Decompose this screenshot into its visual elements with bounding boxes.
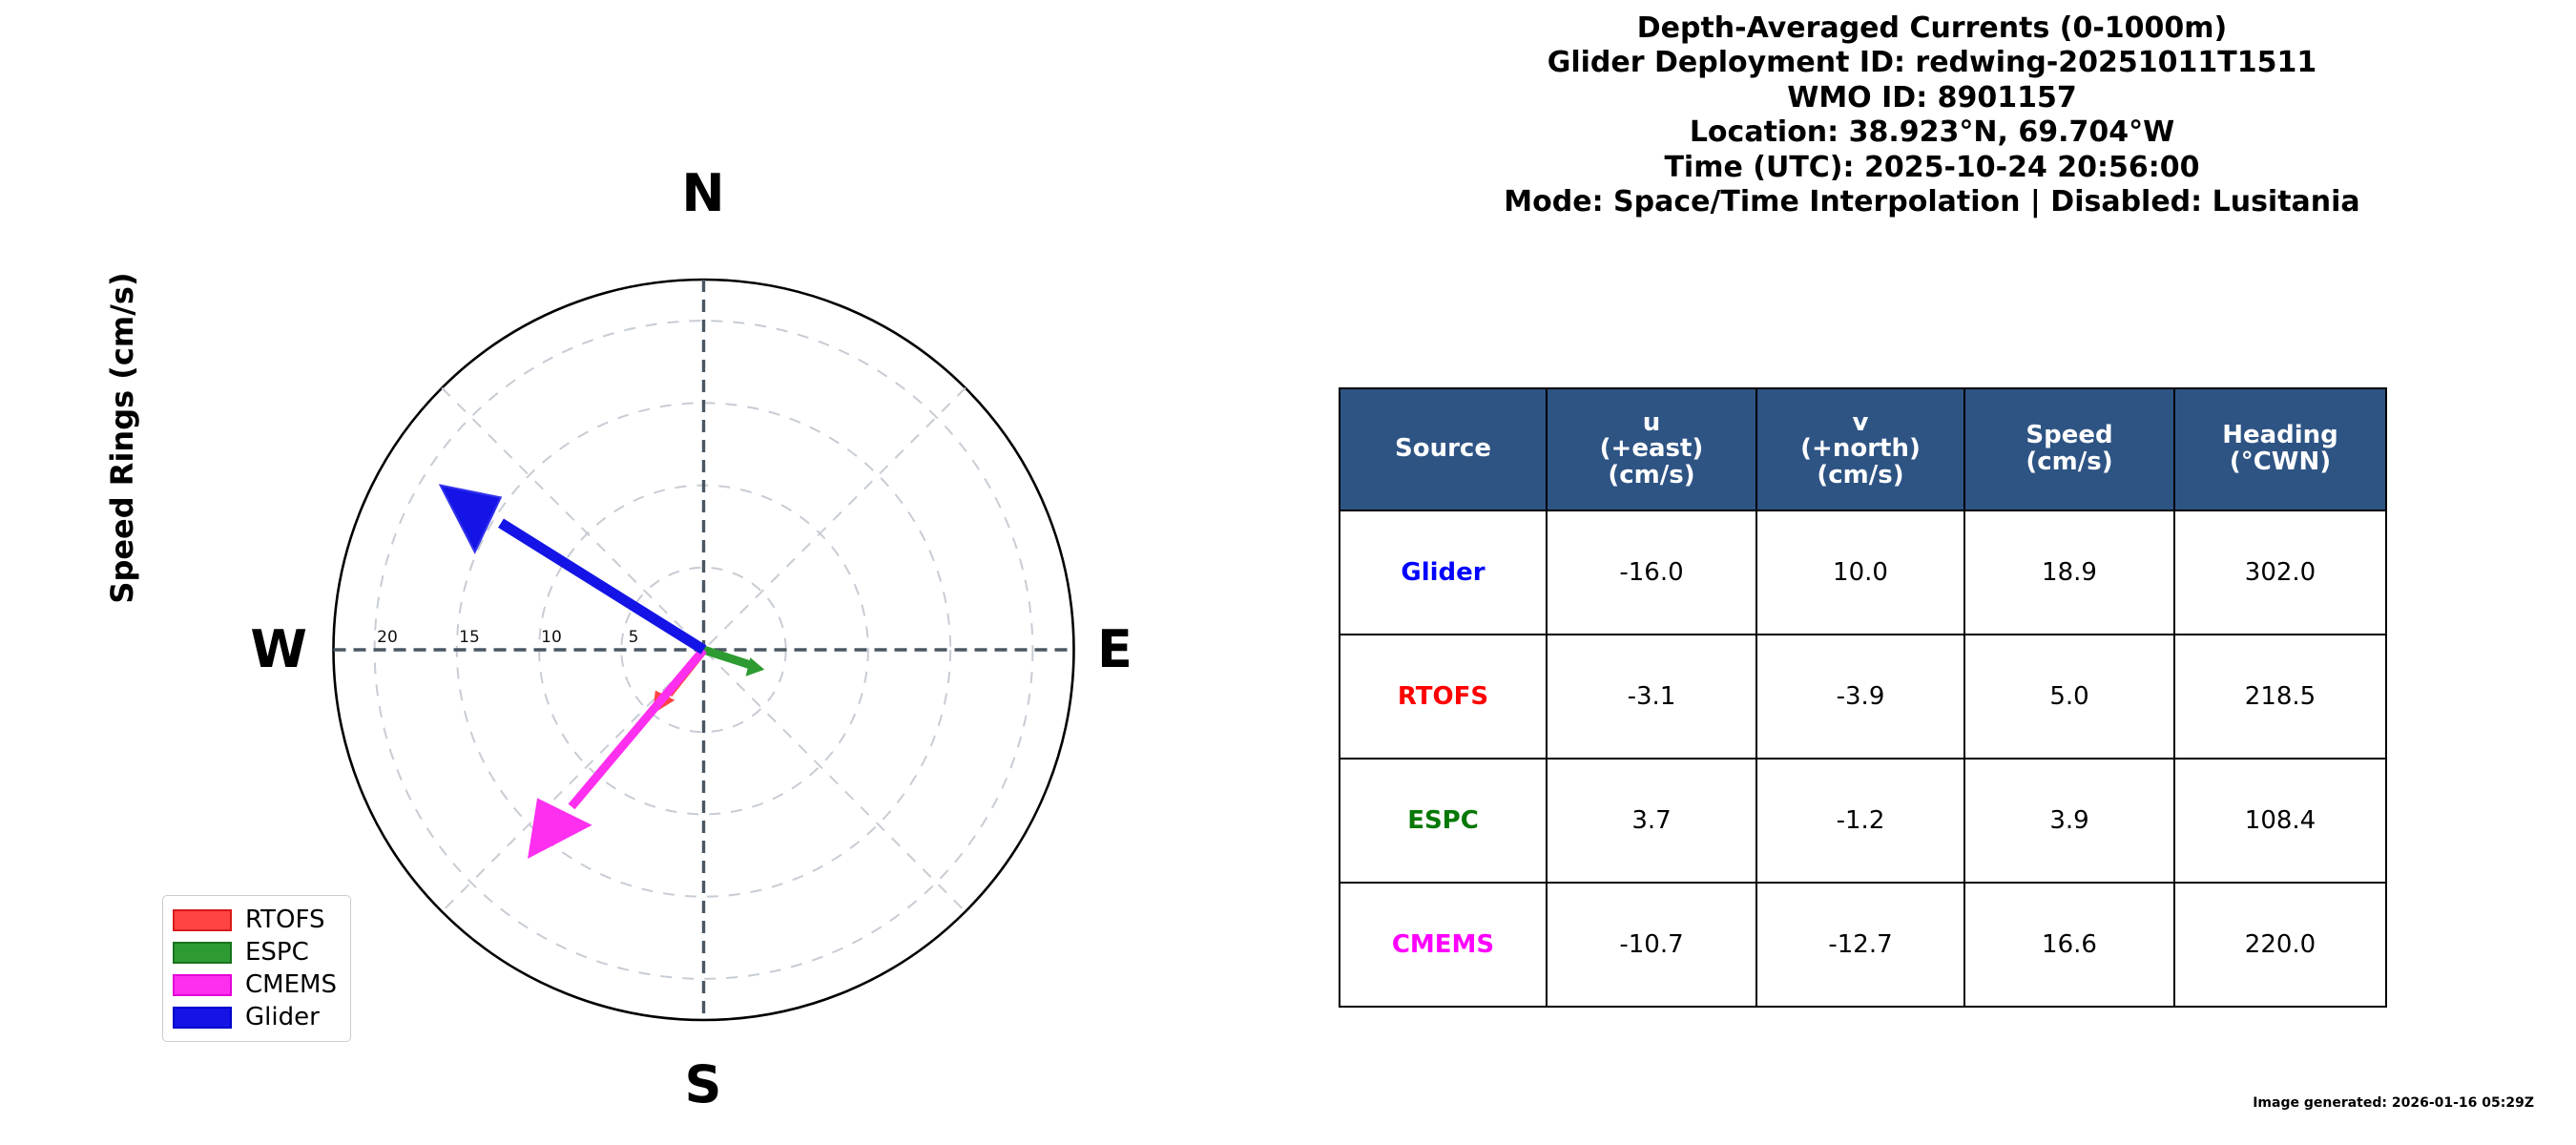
cell-speed-cmems: 16.6 xyxy=(1964,883,2174,1007)
vector-cmems xyxy=(528,650,704,859)
currents-table: Source u (+east) (cm/s) v (+north) (cm/s… xyxy=(1339,387,2387,1008)
legend-item-cmems[interactable]: CMEMS xyxy=(173,968,337,1001)
title-line-time: Time (UTC): 2025-10-24 20:56:00 xyxy=(1288,151,2576,185)
cell-speed-rtofs: 5.0 xyxy=(1964,635,2174,759)
cell-v-glider: 10.0 xyxy=(1756,510,1964,635)
column-header-heading-sub1: (°CWN) xyxy=(2177,449,2383,476)
legend-item-rtofs[interactable]: RTOFS xyxy=(173,904,337,936)
ring-tick-10: 10 xyxy=(541,628,562,647)
generated-timestamp: Image generated: 2026-01-16 05:29Z xyxy=(2253,1095,2534,1111)
cell-speed-glider: 18.9 xyxy=(1964,510,2174,635)
legend-swatch-espc xyxy=(173,942,232,964)
cell-v-espc: -1.2 xyxy=(1756,759,1964,883)
legend-label-rtofs: RTOFS xyxy=(245,907,325,932)
cell-heading-cmems: 220.0 xyxy=(2174,883,2386,1007)
column-header-speed-main: Speed xyxy=(1967,423,2171,449)
legend-label-cmems: CMEMS xyxy=(245,972,337,997)
cell-source-glider: Glider xyxy=(1340,510,1547,635)
column-header-u-main: u xyxy=(1549,410,1754,437)
legend-swatch-glider xyxy=(173,1007,232,1029)
legend-item-glider[interactable]: Glider xyxy=(173,1001,337,1033)
title-line-mode: Mode: Space/Time Interpolation | Disable… xyxy=(1288,185,2576,219)
cell-v-cmems: -12.7 xyxy=(1756,883,1964,1007)
ring-tick-15: 15 xyxy=(459,628,480,647)
vector-glider xyxy=(441,486,704,650)
cell-u-rtofs: -3.1 xyxy=(1547,635,1756,759)
cell-heading-rtofs: 218.5 xyxy=(2174,635,2386,759)
column-header-v-sub2: (cm/s) xyxy=(1759,463,1962,489)
column-header-heading: Heading (°CWN) xyxy=(2174,388,2386,510)
compass-label-west: W xyxy=(212,624,307,676)
table-row: ESPC 3.7 -1.2 3.9 108.4 xyxy=(1340,759,2386,883)
legend-item-espc[interactable]: ESPC xyxy=(173,936,337,968)
cell-u-cmems: -10.7 xyxy=(1547,883,1756,1007)
column-header-heading-main: Heading xyxy=(2177,423,2383,449)
cell-u-espc: 3.7 xyxy=(1547,759,1756,883)
column-header-u: u (+east) (cm/s) xyxy=(1547,388,1756,510)
title-line-wmo: WMO ID: 8901157 xyxy=(1288,81,2576,115)
compass-label-east: E xyxy=(1097,624,1193,676)
cell-heading-glider: 302.0 xyxy=(2174,510,2386,635)
info-panel: Depth-Averaged Currents (0-1000m) Glider… xyxy=(1288,0,2576,1145)
title-line-currents: Depth-Averaged Currents (0-1000m) xyxy=(1288,11,2576,46)
table-header-row: Source u (+east) (cm/s) v (+north) (cm/s… xyxy=(1340,388,2386,510)
column-header-speed: Speed (cm/s) xyxy=(1964,388,2174,510)
cell-u-glider: -16.0 xyxy=(1547,510,1756,635)
column-header-v-sub1: (+north) xyxy=(1759,436,1962,463)
cell-source-espc: ESPC xyxy=(1340,759,1547,883)
column-header-v: v (+north) (cm/s) xyxy=(1756,388,1964,510)
vector-espc xyxy=(704,650,765,677)
ring-tick-20: 20 xyxy=(377,628,398,647)
title-line-deployment: Glider Deployment ID: redwing-20251011T1… xyxy=(1288,46,2576,80)
cell-source-rtofs: RTOFS xyxy=(1340,635,1547,759)
cell-source-cmems: CMEMS xyxy=(1340,883,1547,1007)
column-header-u-sub1: (+east) xyxy=(1549,436,1754,463)
radial-axis-label: Speed Rings (cm/s) xyxy=(104,228,148,648)
column-header-source-main: Source xyxy=(1342,436,1544,463)
legend-label-espc: ESPC xyxy=(245,940,309,965)
cell-v-rtofs: -3.9 xyxy=(1756,635,1964,759)
cell-heading-espc: 108.4 xyxy=(2174,759,2386,883)
table-row: CMEMS -10.7 -12.7 16.6 220.0 xyxy=(1340,883,2386,1007)
column-header-v-main: v xyxy=(1759,410,1962,437)
polar-plot-panel: 20 15 10 5 N S E W Speed Rings (cm/s) RT… xyxy=(0,0,1288,1145)
legend-label-glider: Glider xyxy=(245,1005,320,1030)
title-line-location: Location: 38.923°N, 69.704°W xyxy=(1288,115,2576,150)
cell-speed-espc: 3.9 xyxy=(1964,759,2174,883)
table-row: Glider -16.0 10.0 18.9 302.0 xyxy=(1340,510,2386,635)
column-header-source: Source xyxy=(1340,388,1547,510)
title-block: Depth-Averaged Currents (0-1000m) Glider… xyxy=(1288,11,2576,219)
legend-swatch-cmems xyxy=(173,974,232,996)
column-header-speed-sub1: (cm/s) xyxy=(1967,449,2171,476)
compass-label-north: N xyxy=(655,168,751,219)
column-header-u-sub2: (cm/s) xyxy=(1549,463,1754,489)
compass-label-south: S xyxy=(655,1059,751,1111)
ring-tick-5: 5 xyxy=(629,628,639,647)
table-row: RTOFS -3.1 -3.9 5.0 218.5 xyxy=(1340,635,2386,759)
legend-swatch-rtofs xyxy=(173,909,232,931)
chart-legend: RTOFS ESPC CMEMS Glider xyxy=(162,895,351,1042)
